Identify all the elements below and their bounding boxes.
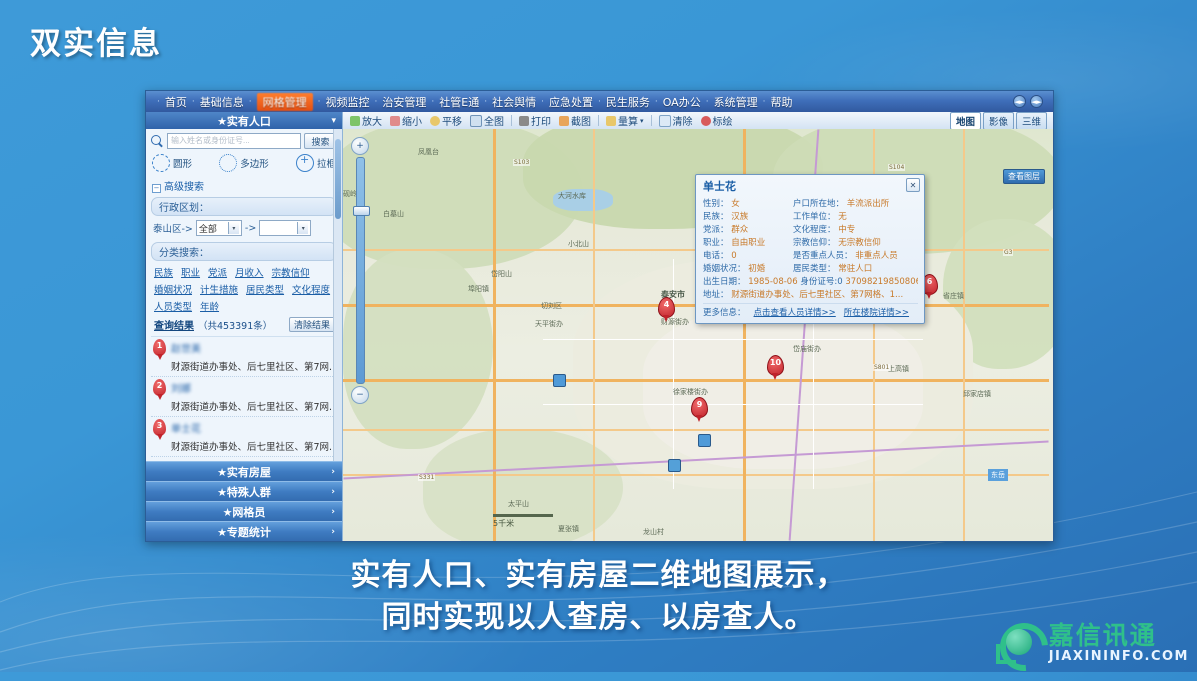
map-tool-print[interactable]: 打印 [516, 113, 554, 128]
category-link-ethnicity[interactable]: 民族 [154, 265, 173, 279]
annotate-icon [701, 116, 711, 126]
map-label: 东岳 [988, 469, 1008, 481]
category-link-resident-type[interactable]: 居民类型 [246, 282, 284, 296]
map-road [493, 129, 496, 541]
nav-separator-dot: · [706, 97, 709, 107]
road-badge: S801 [873, 364, 890, 371]
field-key-phone-label: 电话： [703, 251, 729, 261]
slide-title: 双实信息 [30, 18, 162, 63]
road-badge: G3 [1003, 249, 1013, 256]
map-road [543, 404, 923, 405]
sidebar-item-label: ★特殊人群 [217, 484, 271, 500]
field-key-key-person: 是否重点人员： 非重点人员 [793, 249, 918, 261]
toolbar-divider [598, 115, 599, 126]
field-value-party: 群众 [731, 225, 748, 235]
zoom-slider-track[interactable] [356, 157, 365, 384]
map-tool-full-extent-label: 全图 [484, 113, 504, 128]
map-road [593, 129, 595, 541]
expand-icon: − [152, 184, 161, 193]
application-body: ★实有人口 ▾ 搜索 圆形 多边形 [146, 112, 1053, 541]
category-link-party[interactable]: 党派 [208, 265, 227, 279]
result-pin-index: 3 [153, 421, 166, 430]
map-tool-zoom-out-label: 缩小 [402, 113, 422, 128]
map-tool-zoom-in-label: 放大 [362, 113, 382, 128]
map-label: 夏张镇 [558, 524, 579, 534]
field-value-gender: 女 [731, 199, 740, 209]
map-mode-switcher: 地图 影像 三维 [950, 112, 1049, 130]
more-info-label: 更多信息： [703, 306, 746, 318]
panel-sections: ★实有房屋 › ★特殊人群 › ★网格员 › ★专题统计 › [146, 461, 342, 541]
chevron-down-icon: ▾ [228, 222, 239, 234]
field-key-gender: 性别： 女 [703, 197, 789, 209]
nav-separator-dot: · [375, 97, 378, 107]
map-tool-annotate-label: 标绘 [713, 113, 733, 128]
map-tool-print-label: 打印 [531, 113, 551, 128]
nav-separator-dot: · [192, 97, 195, 107]
map-label: 太平山 [508, 499, 529, 509]
panel-header-real-population[interactable]: ★实有人口 ▾ [146, 112, 342, 129]
nav-item-social-etong[interactable]: 社管E通 [439, 94, 479, 110]
map-mode-imagery[interactable]: 影像 [983, 112, 1014, 130]
sidebar-item-label: ★网格员 [223, 504, 266, 520]
category-link-marital[interactable]: 婚姻状况 [154, 282, 192, 296]
chevron-down-icon[interactable]: ▾ [331, 116, 336, 126]
map-layer-badge[interactable]: 查看图层 [1003, 169, 1045, 184]
draw-tools-row: 圆形 多边形 拉框 [152, 154, 336, 172]
region-arrow: -> [245, 223, 256, 234]
nav-separator-dot: · [157, 97, 160, 107]
print-icon [519, 116, 529, 126]
map-road [963, 129, 965, 541]
map-road [343, 429, 1049, 431]
map-tool-screenshot[interactable]: 截图 [556, 113, 594, 128]
search-row: 搜索 [151, 133, 337, 149]
field-key-education-label: 文化程度： [793, 225, 836, 235]
field-value-key-person: 非重点人员 [855, 251, 898, 261]
nav-separator-dot: · [763, 97, 766, 107]
sidebar-item-label: ★专题统计 [217, 524, 271, 540]
field-value-religion: 无宗教信仰 [838, 238, 881, 248]
result-name: 刘娜 [171, 380, 191, 395]
circle-select-icon [152, 154, 170, 172]
map-label: 岱庙街办 [793, 344, 821, 354]
map-pin-index: 9 [692, 400, 707, 409]
category-link-age[interactable]: 年龄 [200, 299, 219, 313]
field-key-religion-label: 宗教信仰： [793, 238, 836, 248]
map-mode-3d[interactable]: 三维 [1016, 112, 1047, 130]
zoom-in-icon [350, 116, 360, 126]
field-value-idno: 370982198508061423 [845, 277, 918, 287]
nav-item-public-security[interactable]: 治安管理 [382, 94, 426, 110]
map-label: 岱阳山 [491, 269, 512, 279]
category-link-religion[interactable]: 宗教信仰 [272, 265, 310, 279]
result-name: 单士花 [171, 420, 201, 435]
map-label: 天平街办 [535, 319, 563, 329]
nav-item-system-management[interactable]: 系统管理 [714, 94, 758, 110]
field-value-ethnicity: 汉族 [731, 212, 748, 222]
map-label: 大河水库 [558, 191, 586, 201]
nav-item-video-monitor[interactable]: 视频监控 [326, 94, 370, 110]
map-label: 省庄镇 [943, 291, 964, 301]
close-icon[interactable]: ◄► [1030, 95, 1043, 108]
nav-separator-dot: · [541, 97, 544, 107]
draw-tool-circle-label: 圆形 [173, 156, 192, 170]
field-key-occupation-label: 职业： [703, 238, 729, 248]
popup-field-grid: 性别： 女 户口所在地： 羊流派出所 民族： 汉族 工作单位： [703, 197, 918, 274]
map-tool-zoom-out[interactable]: 缩小 [387, 113, 425, 128]
map-label: 白墓山 [383, 209, 404, 219]
map-tool-full-extent[interactable]: 全图 [467, 113, 507, 128]
sidebar-item-special-groups[interactable]: ★特殊人群 › [146, 481, 342, 501]
sidebar-item-label: ★实有房屋 [217, 464, 271, 480]
clear-results-button[interactable]: 清除结果 [289, 317, 335, 332]
field-value-phone: 0 [731, 251, 736, 261]
toolbar-divider [511, 115, 512, 126]
advanced-search-label: 高级搜索 [164, 182, 204, 193]
view-building-detail-link[interactable]: 所在楼院详情>> [844, 306, 909, 318]
popup-birth-id-row: 出生日期： 1985-08-06 身份证号:0 3709821985080614… [703, 275, 918, 287]
company-logo: 嘉信讯通 JIAXININFO.COM [996, 620, 1189, 666]
sidebar-item-thematic-stats[interactable]: ★专题统计 › [146, 521, 342, 541]
map-zoom-control: + − [351, 137, 369, 404]
map-label: 邱家店镇 [963, 389, 991, 399]
list-item[interactable]: 1 赵世美 财源街道办事处、后七里社区、第7网... [151, 337, 337, 377]
caption-line-1: 实有人口、实有房屋二维地图展示， [0, 555, 1197, 597]
panel-header-label: ★实有人口 [217, 113, 271, 129]
map-road [543, 339, 923, 340]
field-key-idno: 身份证号:0 [800, 277, 842, 287]
category-link-income[interactable]: 月收入 [235, 265, 264, 279]
chevron-right-icon: › [331, 487, 335, 497]
field-key-ethnicity-label: 民族： [703, 212, 729, 222]
field-value-address: 财源街道办事处、后七里社区、第7网格、1... [731, 290, 903, 300]
map-scale-label: 5千米 [493, 519, 514, 528]
zoom-out-icon [390, 116, 400, 126]
map-pin-index: 4 [659, 300, 674, 309]
close-icon[interactable]: ✕ [906, 178, 920, 192]
field-value-occupation: 自由职业 [731, 238, 765, 248]
result-address: 财源街道办事处、后七里社区、第7网... [171, 399, 335, 413]
result-pin-index: 1 [153, 341, 166, 350]
field-value-workplace: 无 [838, 212, 847, 222]
field-value-resident-type: 常驻人口 [838, 264, 872, 274]
map-feature-icon[interactable] [698, 434, 711, 447]
field-key-ethnicity: 民族： 汉族 [703, 210, 789, 222]
sidebar-item-grid-staff[interactable]: ★网格员 › [146, 501, 342, 521]
pan-icon [430, 116, 440, 126]
field-key-education: 文化程度： 中专 [793, 223, 918, 235]
map-tool-clear[interactable]: 清除 [656, 113, 696, 128]
field-key-workplace-label: 工作单位： [793, 212, 836, 222]
field-key-address: 地址： [703, 290, 729, 300]
map-feature-icon[interactable] [553, 374, 566, 387]
field-key-gender-label: 性别： [703, 199, 729, 209]
view-person-detail-link[interactable]: 点击查看人员详情>> [754, 306, 836, 318]
field-key-party-label: 党派： [703, 225, 729, 235]
box-select-icon [296, 154, 314, 172]
zoom-out-button[interactable]: − [351, 386, 369, 404]
chevron-right-icon: › [331, 507, 335, 517]
main-navigation-bar: · 首页 · 基础信息 · 网格管理 · 视频监控 · 治安管理 · 社管E通 … [146, 91, 1053, 112]
category-link-person-type[interactable]: 人员类型 [154, 299, 192, 313]
application-window: · 首页 · 基础信息 · 网格管理 · 视频监控 · 治安管理 · 社管E通 … [145, 90, 1054, 542]
polygon-select-icon [219, 154, 237, 172]
map-pin[interactable]: 4 [658, 297, 675, 318]
field-key-marital: 婚姻状况： 初婚 [703, 262, 789, 274]
list-item[interactable]: 2 刘娜 财源街道办事处、后七里社区、第7网... [151, 377, 337, 417]
result-address: 财源街道办事处、后七里社区、第7网... [171, 439, 335, 453]
map-tool-screenshot-label: 截图 [571, 113, 591, 128]
road-badge: S103 [513, 159, 530, 166]
panel-scrollbar-thumb[interactable] [335, 139, 341, 219]
draw-tool-circle[interactable]: 圆形 [152, 154, 192, 172]
map-tool-clear-label: 清除 [673, 113, 693, 128]
map-label: 小北山 [568, 239, 589, 249]
field-key-household: 户口所在地： 羊流派出所 [793, 197, 918, 209]
left-panel: ★实有人口 ▾ 搜索 圆形 多边形 [146, 112, 343, 541]
person-info-popup: ✕ 单士花 性别： 女 户口所在地： 羊流派出所 民族： [695, 174, 925, 324]
result-address: 财源街道办事处、后七里社区、第7网... [171, 359, 335, 373]
popup-title: 单士花 [703, 178, 918, 194]
logo-tail [996, 644, 1016, 664]
logo-name-cn: 嘉信讯通 [1049, 623, 1189, 649]
region-select-1-value: 全部 [199, 222, 217, 235]
logo-name-en: JIAXININFO.COM [1049, 649, 1189, 664]
region-section-label: 行政区划： [151, 197, 337, 216]
chevron-right-icon: › [331, 527, 335, 537]
search-input[interactable] [167, 133, 301, 149]
logo-text: 嘉信讯通 JIAXININFO.COM [1049, 623, 1189, 664]
map-area: 放大 缩小 平移 全图 打印 截图 [343, 112, 1053, 541]
result-pin-icon: 1 [153, 339, 166, 356]
draw-tool-polygon[interactable]: 多边形 [219, 154, 269, 172]
panel-content: 搜索 圆形 多边形 拉框 [146, 129, 342, 461]
map-mode-map[interactable]: 地图 [950, 112, 981, 130]
nav-separator-dot: · [655, 97, 658, 107]
panel-scrollbar[interactable] [333, 129, 342, 461]
category-section-label: 分类搜索： [151, 242, 337, 261]
result-label[interactable]: 查询结果 [154, 317, 194, 332]
nav-separator-dot: · [484, 97, 487, 107]
field-key-occupation: 职业： 自由职业 [703, 236, 789, 248]
toolbar-divider [651, 115, 652, 126]
clear-icon [659, 115, 671, 127]
measure-icon [606, 116, 616, 126]
screenshot-icon [559, 116, 569, 126]
nav-separator-dot: · [249, 97, 252, 107]
list-item-header: 3 单士花 [153, 419, 335, 436]
map-road [343, 379, 1049, 382]
list-item[interactable]: 3 单士花 财源街道办事处、后七里社区、第7网... [151, 417, 337, 457]
category-link-occupation[interactable]: 职业 [181, 265, 200, 279]
field-key-key-person-label: 是否重点人员： [793, 251, 853, 261]
map-scale-bar: 5千米 [493, 514, 553, 529]
road-badge: S104 [888, 164, 905, 171]
region-select-1[interactable]: 全部 ▾ [196, 220, 242, 236]
nav-item-help[interactable]: 帮助 [770, 94, 792, 110]
result-pin-icon: 2 [153, 379, 166, 396]
category-link-education[interactable]: 文化程度 [292, 282, 330, 296]
map-toolbar: 放大 缩小 平移 全图 打印 截图 [343, 112, 1053, 130]
result-pin-index: 2 [153, 381, 166, 390]
field-value-education: 中专 [838, 225, 855, 235]
nav-separator-dot: · [431, 97, 434, 107]
map-tool-zoom-in[interactable]: 放大 [347, 113, 385, 128]
map-tool-pan[interactable]: 平移 [427, 113, 465, 128]
map-tool-annotate[interactable]: 标绘 [698, 113, 736, 128]
sidebar-item-real-housing[interactable]: ★实有房屋 › [146, 461, 342, 481]
nav-item-public-service[interactable]: 民生服务 [606, 94, 650, 110]
chevron-down-icon[interactable]: ▾ [640, 117, 644, 125]
field-key-resident-type: 居民类型： 常驻人口 [793, 262, 918, 274]
draw-tool-polygon-label: 多边形 [240, 156, 269, 170]
result-name: 赵世美 [171, 340, 201, 355]
region-select-2[interactable]: ▾ [259, 220, 311, 236]
nav-item-grid-management[interactable]: 网格管理 [257, 93, 313, 111]
full-extent-icon [470, 115, 482, 127]
field-key-birthdate: 出生日期： [703, 277, 746, 287]
map-label: 上高镇 [888, 364, 909, 374]
field-key-phone: 电话： 0 [703, 249, 789, 261]
map-road [343, 474, 1049, 476]
nav-separator-dot: · [598, 97, 601, 107]
nav-separator-dot: · [318, 97, 321, 107]
map-tool-measure-label: 量算 [618, 113, 638, 128]
category-link-family-planning[interactable]: 计生措施 [200, 282, 238, 296]
restore-icon[interactable]: ◄► [1013, 95, 1026, 108]
field-key-religion: 宗教信仰： 无宗教信仰 [793, 236, 918, 248]
region-selector-row: 泰山区-> 全部 ▾ -> ▾ [153, 220, 337, 236]
map-feature-icon[interactable] [668, 459, 681, 472]
chevron-down-icon: ▾ [297, 222, 308, 234]
map-pin[interactable]: 9 [691, 397, 708, 418]
nav-item-emergency[interactable]: 应急处置 [549, 94, 593, 110]
zoom-in-button[interactable]: + [351, 137, 369, 155]
zoom-slider-thumb[interactable] [353, 206, 370, 216]
field-key-household-label: 户口所在地： [793, 199, 844, 209]
road-badge: S331 [418, 474, 435, 481]
field-value-household: 羊流派出所 [847, 199, 890, 209]
list-item-header: 1 赵世美 [153, 339, 335, 356]
field-value-marital: 初婚 [748, 264, 765, 274]
map-pin[interactable]: 10 [767, 355, 784, 376]
category-links: 民族 职业 党派 月收入 宗教信仰 婚姻状况 计生措施 居民类型 文化程度 人员… [154, 265, 335, 313]
window-controls: ◄► ◄► [1013, 95, 1047, 108]
result-summary-row: 查询结果 （共453391条） 清除结果 [154, 317, 335, 332]
list-item-header: 2 刘娜 [153, 379, 335, 396]
popup-more-info-row: 更多信息： 点击查看人员详情>> 所在楼院详情>> [703, 303, 918, 318]
search-icon [151, 135, 164, 148]
nav-item-public-opinion[interactable]: 社会舆情 [492, 94, 536, 110]
map-label: 切刘区 [541, 301, 562, 311]
popup-address-row: 地址： 财源街道办事处、后七里社区、第7网格、1... [703, 288, 918, 300]
field-key-workplace: 工作单位： 无 [793, 210, 918, 222]
field-value-birthdate: 1985-08-06 [748, 277, 797, 287]
map-canvas[interactable]: 凤凰台 白墓山 大河水库 岱阳山 泰安市 砚岭 埠阳镇 小北山 切刘区 天平街办… [343, 129, 1053, 541]
map-label: 埠阳镇 [468, 284, 489, 294]
logo-mark-icon [996, 620, 1042, 666]
field-key-resident-type-label: 居民类型： [793, 264, 836, 274]
map-label: 龙山村 [643, 527, 664, 537]
region-prefix: 泰山区-> [153, 221, 193, 235]
result-count: （共453391条） [198, 318, 272, 332]
nav-item-oa[interactable]: OA办公 [663, 94, 701, 110]
result-list: 1 赵世美 财源街道办事处、后七里社区、第7网... 2 刘娜 财源街道办事处、… [151, 336, 337, 457]
draw-tool-box[interactable]: 拉框 [296, 154, 336, 172]
map-pin-index: 10 [768, 358, 783, 367]
map-tool-measure[interactable]: 量算 ▾ [603, 113, 647, 128]
result-pin-icon: 3 [153, 419, 166, 436]
nav-item-home[interactable]: 首页 [165, 94, 187, 110]
advanced-search-toggle[interactable]: −高级搜索 [152, 178, 337, 193]
nav-item-basic-info[interactable]: 基础信息 [200, 94, 244, 110]
field-key-marital-label: 婚姻状况： [703, 264, 746, 274]
map-label: 凤凰台 [418, 147, 439, 157]
map-label: 徐家楼街办 [673, 387, 708, 397]
field-key-party: 党派： 群众 [703, 223, 789, 235]
map-tool-pan-label: 平移 [442, 113, 462, 128]
chevron-right-icon: › [331, 467, 335, 477]
